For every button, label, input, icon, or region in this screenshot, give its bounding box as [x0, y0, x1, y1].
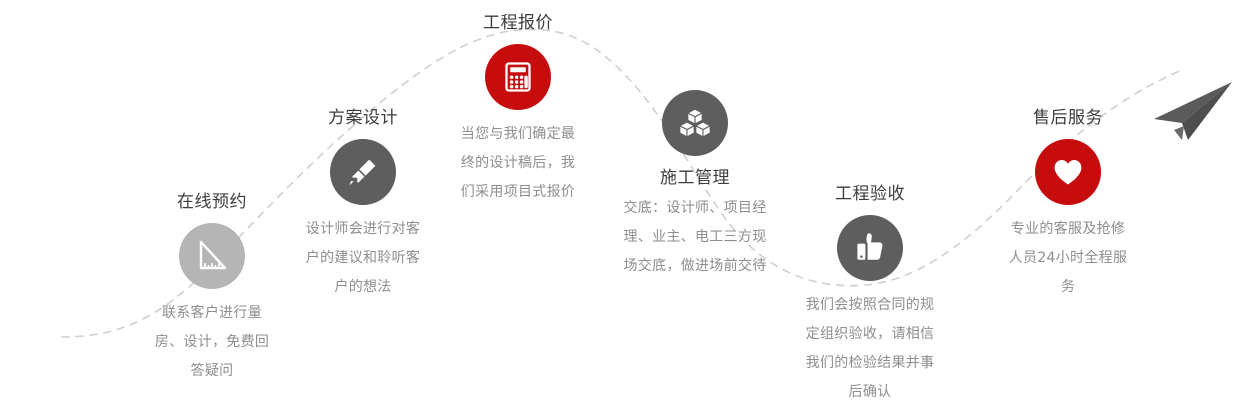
step-desc-line: 我们会按照合同的规	[775, 291, 965, 320]
step-desc-line: 我们的检验结果并事	[775, 349, 965, 378]
process-step-project-acceptance[interactable]: 工程验收 我们会按照合同的规 定组织验收，请相信 我们的检验结果并事 后确认	[775, 182, 965, 402]
step-desc-line: 房、设计，免费回	[122, 328, 302, 357]
step-desc-line: 答疑问	[122, 357, 302, 386]
step-description: 设计师会进行对客 户的建议和聆听客 户的想法	[273, 215, 453, 302]
step-title: 工程报价	[428, 11, 608, 35]
step-title: 工程验收	[775, 182, 965, 206]
step-desc-line: 户的想法	[273, 273, 453, 302]
step-desc-line: 务	[978, 273, 1158, 302]
process-step-plan-design[interactable]: 方案设计 设计师会进行对客 户的建议和聆听客 户的想法	[273, 106, 453, 302]
step-desc-line: 理、业主、电工三方现	[600, 223, 790, 252]
thumbs-up-icon	[837, 215, 903, 281]
step-desc-line: 后确认	[775, 378, 965, 402]
step-desc-line: 人员24小时全程服	[978, 244, 1158, 273]
step-desc-line: 户的建议和聆听客	[273, 244, 453, 273]
step-desc-line: 定组织验收，请相信	[775, 320, 965, 349]
step-desc-line: 专业的客服及抢修	[978, 215, 1158, 244]
step-desc-line: 场交底，做进场前交待	[600, 252, 790, 281]
step-desc-line: 交底：设计师、项目经	[600, 194, 790, 223]
process-step-after-sales-service[interactable]: 售后服务 专业的客服及抢修 人员24小时全程服 务	[978, 106, 1158, 302]
step-desc-line: 联系客户进行量	[122, 299, 302, 328]
step-title: 售后服务	[978, 106, 1158, 130]
ruler-triangle-icon	[179, 223, 245, 289]
calculator-icon	[485, 44, 551, 110]
step-description: 当您与我们确定最 终的设计稿后，我 们采用项目式报价	[428, 120, 608, 207]
step-description: 我们会按照合同的规 定组织验收，请相信 我们的检验结果并事 后确认	[775, 291, 965, 402]
service-process-diagram: 在线预约 联系客户进行量 房、设计，免费回 答疑问 方案设计	[0, 0, 1245, 402]
step-description: 交底：设计师、项目经 理、业主、电工三方现 场交底，做进场前交待	[600, 194, 790, 281]
step-title: 施工管理	[600, 166, 790, 190]
process-step-construction-management[interactable]: 施工管理 交底：设计师、项目经 理、业主、电工三方现 场交底，做进场前交待	[600, 90, 790, 281]
fountain-pen-icon	[330, 139, 396, 205]
step-desc-line: 当您与我们确定最	[428, 120, 608, 149]
process-step-project-quotation[interactable]: 工程报价 当您与我	[428, 11, 608, 207]
step-description: 联系客户进行量 房、设计，免费回 答疑问	[122, 299, 302, 386]
step-desc-line: 设计师会进行对客	[273, 215, 453, 244]
step-description: 专业的客服及抢修 人员24小时全程服 务	[978, 215, 1158, 302]
step-desc-line: 们采用项目式报价	[428, 178, 608, 207]
paper-plane-icon	[1148, 78, 1238, 154]
heart-icon	[1035, 139, 1101, 205]
boxes-icon	[662, 90, 728, 156]
step-desc-line: 终的设计稿后，我	[428, 149, 608, 178]
step-title: 方案设计	[273, 106, 453, 130]
